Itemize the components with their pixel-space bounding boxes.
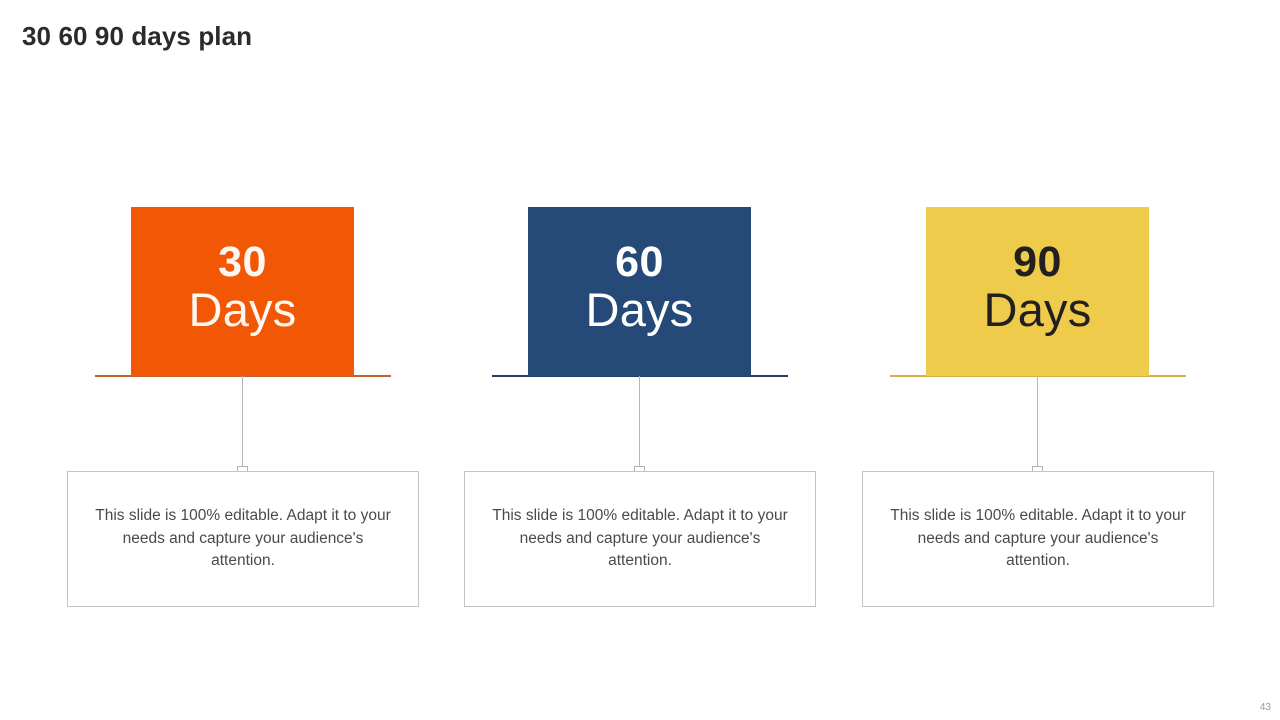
connector-line [242,376,243,472]
milestone-unit: Days [189,284,297,337]
plan-column-30: 30 Days This slide is 100% editable. Ada… [44,0,442,720]
description-card[interactable]: This slide is 100% editable. Adapt it to… [464,471,816,607]
milestone-block-30[interactable]: 30 Days [131,207,354,376]
connector-line [639,376,640,472]
description-text: This slide is 100% editable. Adapt it to… [93,505,393,572]
milestone-block-90[interactable]: 90 Days [926,207,1149,376]
description-card[interactable]: This slide is 100% editable. Adapt it to… [862,471,1214,607]
milestone-unit: Days [984,284,1092,337]
description-text: This slide is 100% editable. Adapt it to… [490,505,790,572]
connector-line [1037,376,1038,472]
description-text: This slide is 100% editable. Adapt it to… [888,505,1188,572]
slide-canvas: 30 60 90 days plan 30 Days This slide is… [0,0,1280,720]
milestone-unit: Days [586,284,694,337]
milestone-number: 30 [218,240,267,284]
milestone-number: 60 [615,240,664,284]
plan-column-60: 60 Days This slide is 100% editable. Ada… [441,0,839,720]
description-card[interactable]: This slide is 100% editable. Adapt it to… [67,471,419,607]
plan-column-90: 90 Days This slide is 100% editable. Ada… [839,0,1237,720]
milestone-number: 90 [1013,240,1062,284]
milestone-block-60[interactable]: 60 Days [528,207,751,376]
page-number: 43 [1260,702,1271,713]
